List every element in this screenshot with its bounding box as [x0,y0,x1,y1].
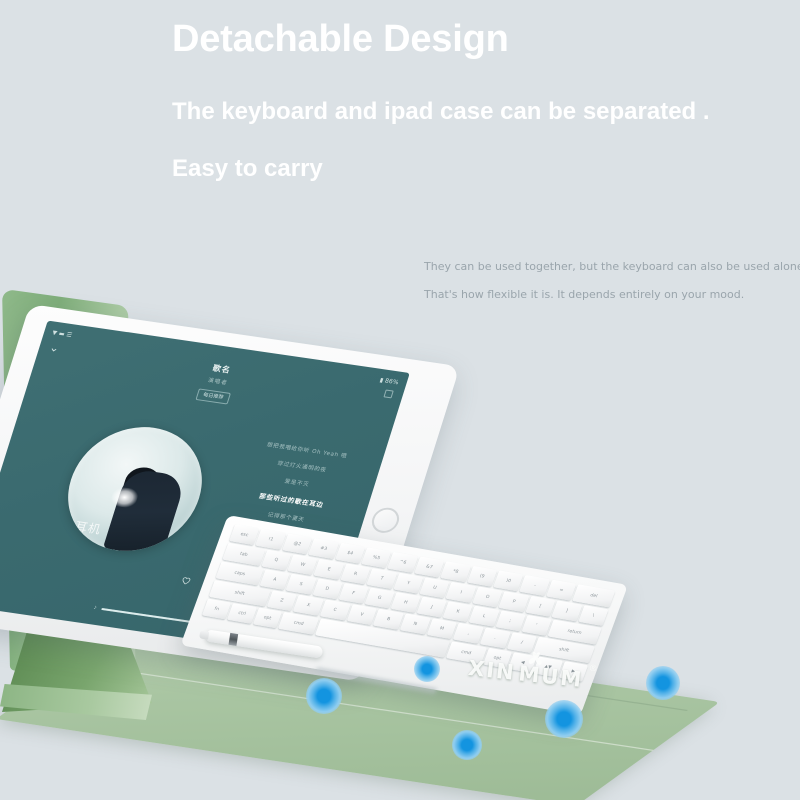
key[interactable]: Y [393,573,424,594]
key[interactable]: \ [578,605,609,626]
key[interactable]: [ [525,596,556,617]
key[interactable]: L [469,606,499,627]
key[interactable]: #3 [308,538,339,559]
album-disc: 耳机 [52,419,218,560]
key[interactable]: K [443,601,473,622]
key[interactable]: ] [551,600,582,621]
key[interactable]: S [286,574,316,595]
key[interactable]: D [312,578,342,599]
key[interactable]: R [340,563,371,584]
key[interactable]: *8 [440,561,471,582]
key[interactable]: U [419,577,450,598]
key[interactable]: J [417,597,447,618]
key-command-left[interactable]: cmd [278,612,319,635]
key[interactable]: $4 [335,543,366,564]
key[interactable]: esc [229,524,260,545]
key[interactable]: G [364,587,394,608]
heart-icon[interactable] [180,576,192,586]
registered-trademark-icon: ® [589,663,597,674]
status-bar-left: ▼ ▬ ☰ [51,329,73,339]
key[interactable]: = [546,580,577,601]
subheadline-1: The keyboard and ipad case can be separa… [172,98,710,126]
brand-logo-text-1: XIN [467,656,517,685]
pencil-band [228,633,238,646]
key[interactable]: W [287,554,318,575]
key[interactable]: I [446,582,477,603]
key[interactable]: A [260,569,290,590]
page-title: Detachable Design [172,18,509,61]
home-button[interactable] [369,506,403,535]
product-photo: ▼ ▬ ☰ ▮ 86% ⌄ 歌名 演唱者 每日推荐 耳机 [0,260,800,800]
butterfly-icon [524,648,547,675]
key[interactable]: Z [266,590,297,611]
subheadline-2: Easy to carry [172,155,323,183]
progress-fill [101,608,197,623]
magnet-dot [452,730,482,760]
key[interactable]: Q [261,550,292,571]
key[interactable]: )0 [493,570,524,591]
magnet-dot [306,678,342,714]
key[interactable]: P [499,591,530,612]
album-person-body [103,468,187,557]
key[interactable]: E [314,559,345,580]
key[interactable]: , [453,623,484,644]
album-art-text: 耳机 [73,517,104,537]
key[interactable]: B [373,609,404,630]
status-bar-right: ▮ 86% [379,376,400,385]
key[interactable]: - [520,575,551,596]
album-art[interactable]: 耳机 [52,419,218,560]
key-option-left[interactable]: opt [253,607,282,628]
key[interactable]: M [426,618,457,639]
key[interactable]: X [293,595,324,616]
key[interactable]: V [346,604,377,625]
magnet-dot [646,666,680,700]
key[interactable]: ^6 [388,552,419,573]
pencil-tip [199,630,209,639]
key[interactable]: O [472,587,503,608]
key-fn[interactable]: fn [202,599,231,620]
key[interactable]: !1 [256,529,287,550]
key[interactable]: (9 [467,566,498,587]
key[interactable]: @2 [282,533,313,554]
key[interactable]: C [320,599,351,620]
key[interactable]: N [400,613,431,634]
key[interactable]: %5 [361,547,392,568]
key-control[interactable]: ctrl [227,603,256,624]
key[interactable]: H [390,592,420,613]
magnet-dot [414,656,440,682]
key[interactable]: ' [521,615,551,636]
key[interactable]: T [367,568,398,589]
magnet-dot [545,700,583,738]
key[interactable]: F [338,583,368,604]
recommend-tag-button[interactable]: 每日推荐 [196,388,232,404]
key[interactable]: . [480,627,511,648]
music-note-icon: ♪ [93,605,98,611]
key[interactable]: &7 [414,557,445,578]
key[interactable]: ; [495,610,525,631]
